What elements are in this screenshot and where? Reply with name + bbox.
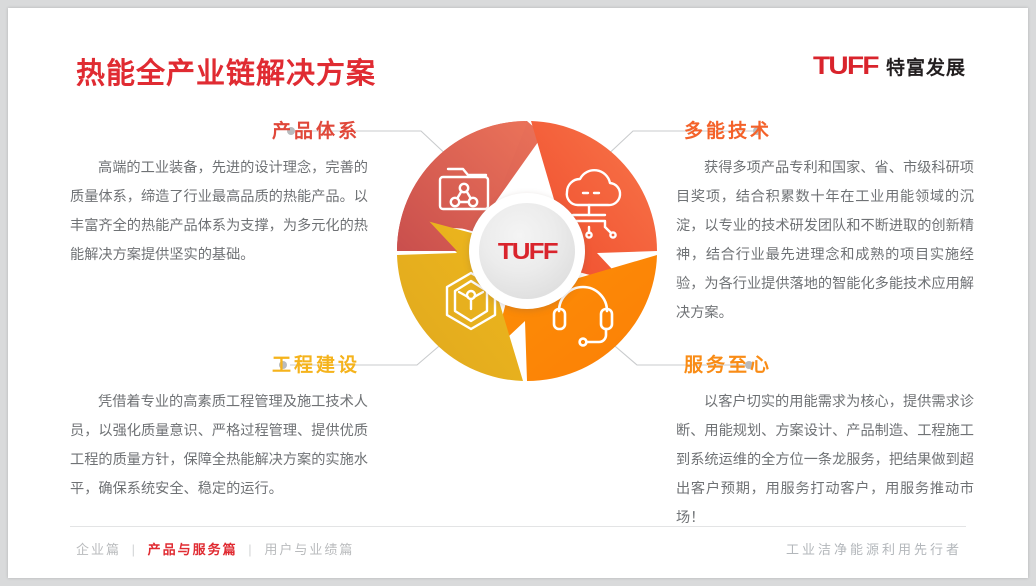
section-heading-service-first: 服务至心 <box>676 350 974 377</box>
section-body-service-first: 以客户切实的用能需求为核心，提供需求诊断、用能规划、方案设计、产品制造、工程施工… <box>676 388 974 533</box>
section-multi-energy-tech: 多能技术 获得多项产品专利和国家、省、市级科研项目奖项，结合积累数十年在工业用能… <box>676 116 974 328</box>
brand-name-cn: 特富发展 <box>886 53 966 80</box>
footer-nav: 企业篇 | 产品与服务篇 | 用户与业绩篇 <box>76 539 354 558</box>
section-engineering-construction: 工程建设 凭借着专业的高素质工程管理及施工技术人员，以强化质量意识、严格过程管理… <box>70 350 368 504</box>
page-title: 热能全产业链解决方案 <box>76 50 376 92</box>
brand-logo: TUFF 特富发展 <box>813 52 966 81</box>
section-heading-engineering-construction: 工程建设 <box>70 350 368 377</box>
section-heading-multi-energy-tech: 多能技术 <box>676 116 974 143</box>
footer-nav-separator-0: | <box>132 542 137 557</box>
slide-canvas: 热能全产业链解决方案 TUFF 特富发展 <box>8 8 1028 578</box>
footer-nav-item-0[interactable]: 企业篇 <box>76 542 121 557</box>
wheel-hub-inner: TUFF <box>479 203 575 299</box>
section-service-first: 服务至心 以客户切实的用能需求为核心，提供需求诊断、用能规划、方案设计、产品制造… <box>676 350 974 533</box>
footer-divider <box>70 526 966 527</box>
section-body-multi-energy-tech: 获得多项产品专利和国家、省、市级科研项目奖项，结合积累数十年在工业用能领域的沉淀… <box>676 154 974 328</box>
brand-wordmark: TUFF <box>813 52 878 81</box>
footer-nav-separator-1: | <box>248 542 253 557</box>
footer-tagline: 工业洁净能源利用先行者 <box>786 539 962 558</box>
section-body-product-system: 高端的工业装备，先进的设计理念，完善的质量体系，缔造了行业最高品质的热能产品。以… <box>70 154 368 270</box>
section-product-system: 产品体系 高端的工业装备，先进的设计理念，完善的质量体系，缔造了行业最高品质的热… <box>70 116 368 270</box>
footer-nav-item-1[interactable]: 产品与服务篇 <box>148 542 238 557</box>
section-heading-product-system: 产品体系 <box>70 116 368 143</box>
hub-logo-text: TUFF <box>497 238 556 265</box>
section-body-engineering-construction: 凭借着专业的高素质工程管理及施工技术人员，以强化质量意识、严格过程管理、提供优质… <box>70 388 368 504</box>
wheel-hub: TUFF <box>469 193 585 309</box>
footer-nav-item-2[interactable]: 用户与业绩篇 <box>264 542 354 557</box>
